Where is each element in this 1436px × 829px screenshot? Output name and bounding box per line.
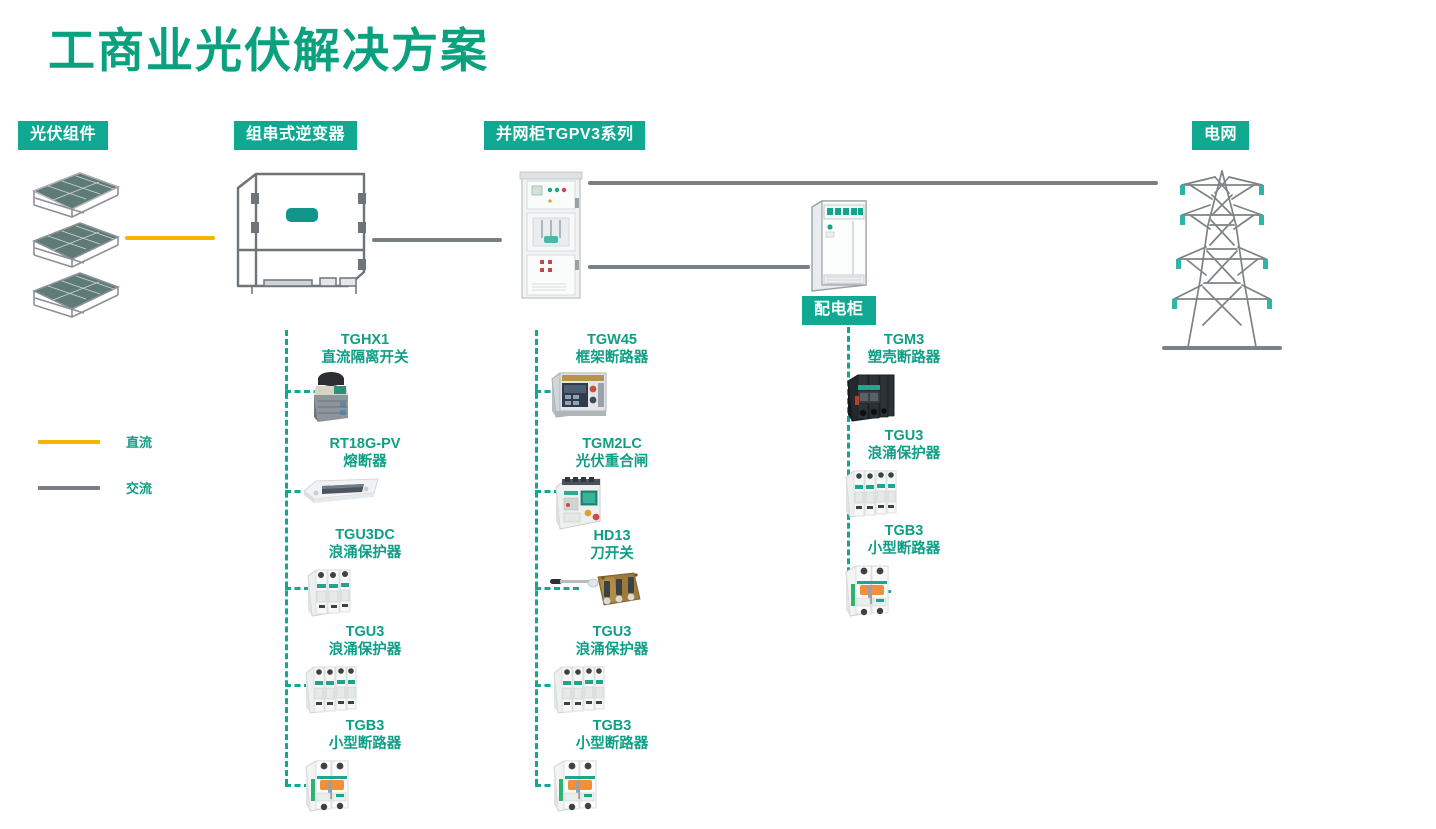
flow-inverter-to-grid-cabinet-ac xyxy=(372,238,502,242)
mccb-icon xyxy=(840,369,968,425)
spd-4p-icon xyxy=(300,661,430,717)
legend-swatch-dc xyxy=(38,440,100,444)
badge-pv-modules: 光伏组件 xyxy=(18,121,108,150)
component-item: HD13 刀开关 xyxy=(548,527,676,611)
distribution-cabinet xyxy=(808,197,870,293)
legend-item-ac: 交流 xyxy=(38,478,152,497)
component-item: TGU3 浪涌保护器 xyxy=(840,427,968,521)
component-model: TGU3 xyxy=(300,623,430,641)
component-name: 熔断器 xyxy=(300,453,430,471)
component-model: TGU3 xyxy=(548,623,676,641)
component-model: RT18G-PV xyxy=(300,435,430,453)
component-name: 浪涌保护器 xyxy=(548,641,676,659)
component-item: TGHX1 直流隔离开关 xyxy=(300,331,430,427)
dc-isolator-switch-icon xyxy=(300,369,430,427)
component-item: TGB3 小型断路器 xyxy=(840,522,968,620)
air-circuit-breaker-icon xyxy=(548,369,676,421)
solar-panel-array xyxy=(22,165,132,325)
spd-4p-icon xyxy=(840,465,968,521)
legend-label-ac: 交流 xyxy=(126,478,152,497)
legend-label-dc: 直流 xyxy=(126,432,152,451)
branch-trunk-grid-cabinet xyxy=(535,330,538,785)
badge-string-inverter: 组串式逆变器 xyxy=(234,121,357,150)
page-title: 工商业光伏解决方案 xyxy=(48,24,489,78)
component-name: 小型断路器 xyxy=(548,735,676,753)
grid-connection-cabinet xyxy=(520,168,582,302)
component-item: TGB3 小型断路器 xyxy=(548,717,676,815)
component-name: 小型断路器 xyxy=(840,540,968,558)
component-model: TGM3 xyxy=(840,331,968,349)
knife-switch-icon xyxy=(548,565,676,611)
component-model: TGU3 xyxy=(840,427,968,445)
component-model: TGW45 xyxy=(548,331,676,349)
component-model: TGB3 xyxy=(840,522,968,540)
component-model: TGB3 xyxy=(300,717,430,735)
component-model: TGHX1 xyxy=(300,331,430,349)
component-name: 光伏重合闸 xyxy=(548,453,676,471)
component-name: 塑壳断路器 xyxy=(840,349,968,367)
badge-grid-cabinet: 并网柜TGPV3系列 xyxy=(484,121,645,150)
mcb-2p-icon xyxy=(548,755,676,815)
component-item: TGU3DC 浪涌保护器 xyxy=(300,526,430,620)
component-model: TGB3 xyxy=(548,717,676,735)
component-name: 浪涌保护器 xyxy=(300,544,430,562)
component-name: 刀开关 xyxy=(548,545,676,563)
badge-distribution-cabinet: 配电柜 xyxy=(802,296,876,325)
badge-power-grid: 电网 xyxy=(1192,121,1249,150)
string-inverter xyxy=(232,168,372,296)
legend-item-dc: 直流 xyxy=(38,432,152,451)
component-name: 小型断路器 xyxy=(300,735,430,753)
fuse-holder-icon xyxy=(300,473,430,507)
spd-4p-icon xyxy=(548,661,676,717)
spd-3p-icon xyxy=(300,564,430,620)
transmission-tower xyxy=(1160,165,1284,357)
pv-recloser-icon xyxy=(548,473,676,533)
component-item: TGW45 框架断路器 xyxy=(548,331,676,421)
component-model: HD13 xyxy=(548,527,676,545)
component-model: TGM2LC xyxy=(548,435,676,453)
component-item: TGM2LC 光伏重合闸 xyxy=(548,435,676,533)
branch-trunk-inverter xyxy=(285,330,288,785)
component-item: TGB3 小型断路器 xyxy=(300,717,430,815)
component-name: 直流隔离开关 xyxy=(300,349,430,367)
flow-grid-cabinet-to-tower-ac xyxy=(588,181,1158,185)
component-item: TGU3 浪涌保护器 xyxy=(300,623,430,717)
mcb-2p-icon xyxy=(300,755,430,815)
flow-pv-to-inverter-dc xyxy=(125,236,215,240)
component-name: 浪涌保护器 xyxy=(300,641,430,659)
component-item: TGU3 浪涌保护器 xyxy=(548,623,676,717)
legend-swatch-ac xyxy=(38,486,100,490)
component-item: TGM3 塑壳断路器 xyxy=(840,331,968,425)
component-name: 浪涌保护器 xyxy=(840,445,968,463)
component-item: RT18G-PV 熔断器 xyxy=(300,435,430,507)
mcb-2p-icon xyxy=(840,560,968,620)
diagram-canvas: 工商业光伏解决方案 光伏组件 组串式逆变器 并网柜TGPV3系列 配电柜 电网 xyxy=(0,0,1436,829)
component-model: TGU3DC xyxy=(300,526,430,544)
component-name: 框架断路器 xyxy=(548,349,676,367)
flow-grid-cabinet-to-distribution-ac xyxy=(588,265,810,269)
